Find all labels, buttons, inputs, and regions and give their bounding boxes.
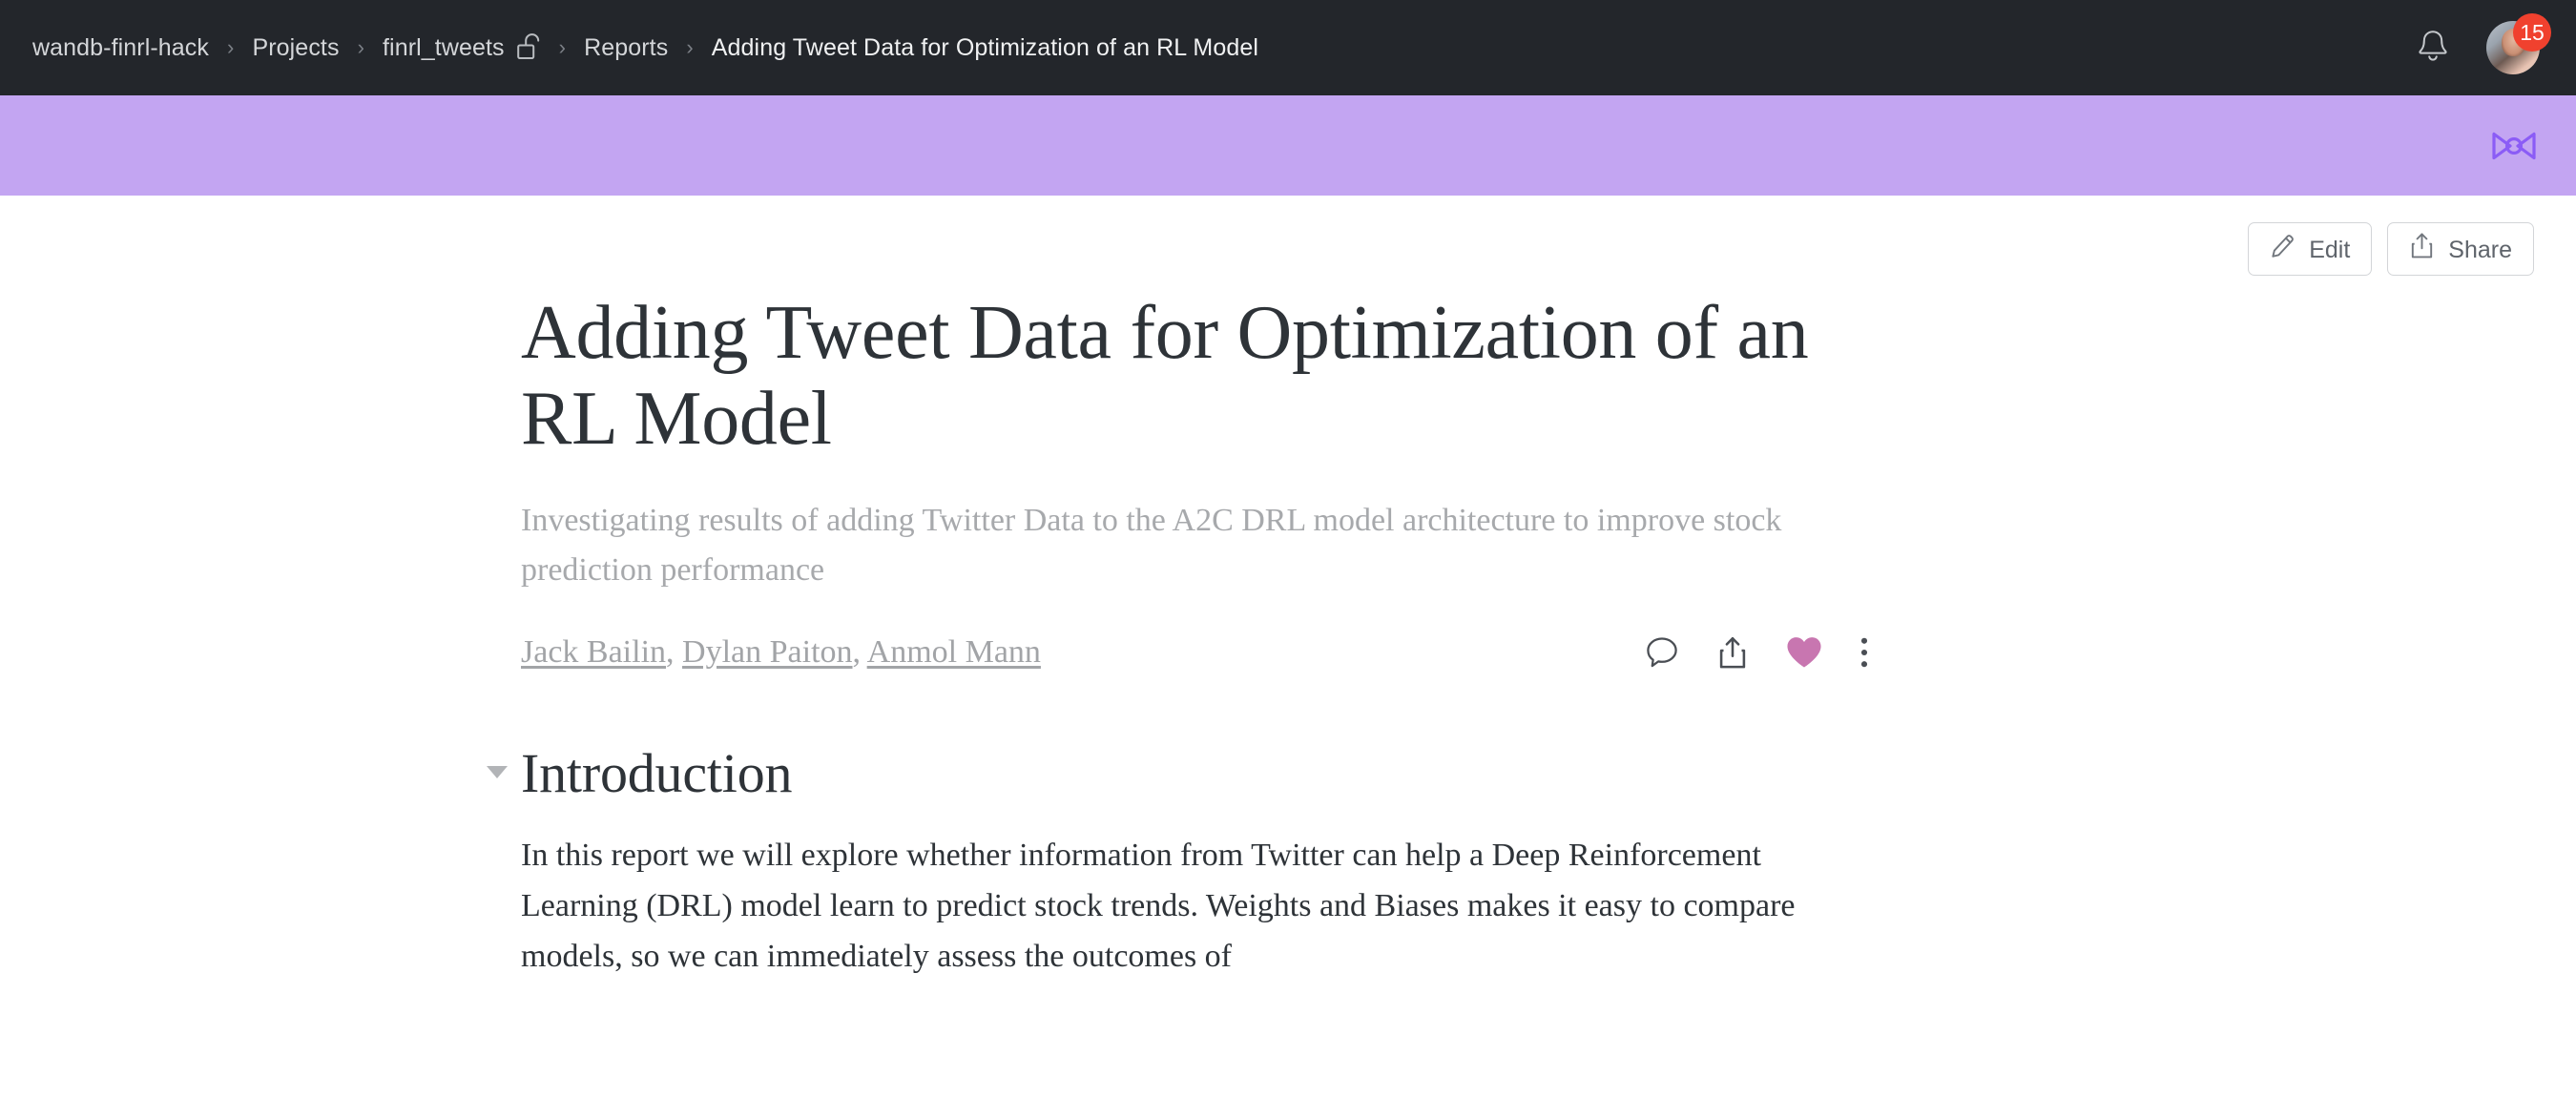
section-heading: Introduction bbox=[521, 742, 2538, 806]
report-toolbar: Edit Share bbox=[0, 196, 2576, 278]
page-title: Adding Tweet Data for Optimization of an… bbox=[521, 291, 1904, 462]
breadcrumb-separator-icon: › bbox=[686, 37, 693, 58]
breadcrumb-separator-icon: › bbox=[227, 37, 234, 58]
report-document: Adding Tweet Data for Optimization of an… bbox=[0, 291, 2576, 983]
heart-icon[interactable] bbox=[1785, 634, 1823, 670]
edit-button[interactable]: Edit bbox=[2248, 222, 2372, 276]
share-icon[interactable] bbox=[1716, 634, 1749, 671]
author-link[interactable]: Anmol Mann bbox=[867, 634, 1041, 670]
bowtie-icon[interactable] bbox=[2490, 127, 2538, 165]
breadcrumb-item-projects[interactable]: Projects bbox=[252, 34, 339, 62]
breadcrumb-separator-icon: › bbox=[559, 37, 566, 58]
share-button[interactable]: Share bbox=[2387, 222, 2534, 276]
report-cover-banner bbox=[0, 95, 2576, 196]
top-navigation-bar: wandb-finrl-hack › Projects › finrl_twee… bbox=[0, 0, 2576, 95]
notification-count-badge: 15 bbox=[2513, 13, 2551, 52]
edit-button-label: Edit bbox=[2309, 238, 2350, 262]
chevron-down-icon[interactable] bbox=[487, 766, 508, 778]
breadcrumb-item-reports[interactable]: Reports bbox=[584, 34, 668, 62]
more-options-icon[interactable] bbox=[1859, 636, 1869, 669]
authors-list: Jack Bailin, Dylan Paiton, Anmol Mann bbox=[521, 631, 1041, 673]
pencil-icon bbox=[2270, 233, 2296, 265]
breadcrumb-item-entity[interactable]: wandb-finrl-hack bbox=[32, 34, 209, 62]
top-bar-actions: 15 bbox=[2412, 21, 2540, 74]
notifications-button[interactable] bbox=[2412, 27, 2454, 69]
report-action-icons bbox=[1644, 634, 1871, 671]
report-subtitle: Investigating results of adding Twitter … bbox=[521, 496, 1790, 594]
author-link[interactable]: Dylan Paiton bbox=[682, 634, 852, 670]
authors-row: Jack Bailin, Dylan Paiton, Anmol Mann bbox=[521, 631, 1871, 673]
breadcrumb-separator-icon: › bbox=[358, 37, 364, 58]
comment-icon[interactable] bbox=[1644, 634, 1680, 671]
section-body-text: In this report we will explore whether i… bbox=[521, 830, 1876, 982]
author-separator: , bbox=[853, 634, 867, 670]
bell-icon bbox=[2416, 28, 2450, 69]
breadcrumb: wandb-finrl-hack › Projects › finrl_twee… bbox=[32, 34, 2412, 62]
author-separator: , bbox=[666, 634, 682, 670]
breadcrumb-item-project[interactable]: finrl_tweets bbox=[383, 34, 505, 62]
section-introduction: Introduction In this report we will expl… bbox=[521, 742, 2538, 983]
unlock-icon bbox=[517, 32, 541, 60]
breadcrumb-item-current-report: Adding Tweet Data for Optimization of an… bbox=[712, 34, 1258, 62]
share-button-label: Share bbox=[2448, 238, 2512, 262]
share-upload-icon bbox=[2409, 232, 2435, 266]
user-menu-button[interactable]: 15 bbox=[2486, 21, 2540, 74]
author-link[interactable]: Jack Bailin bbox=[521, 634, 666, 670]
